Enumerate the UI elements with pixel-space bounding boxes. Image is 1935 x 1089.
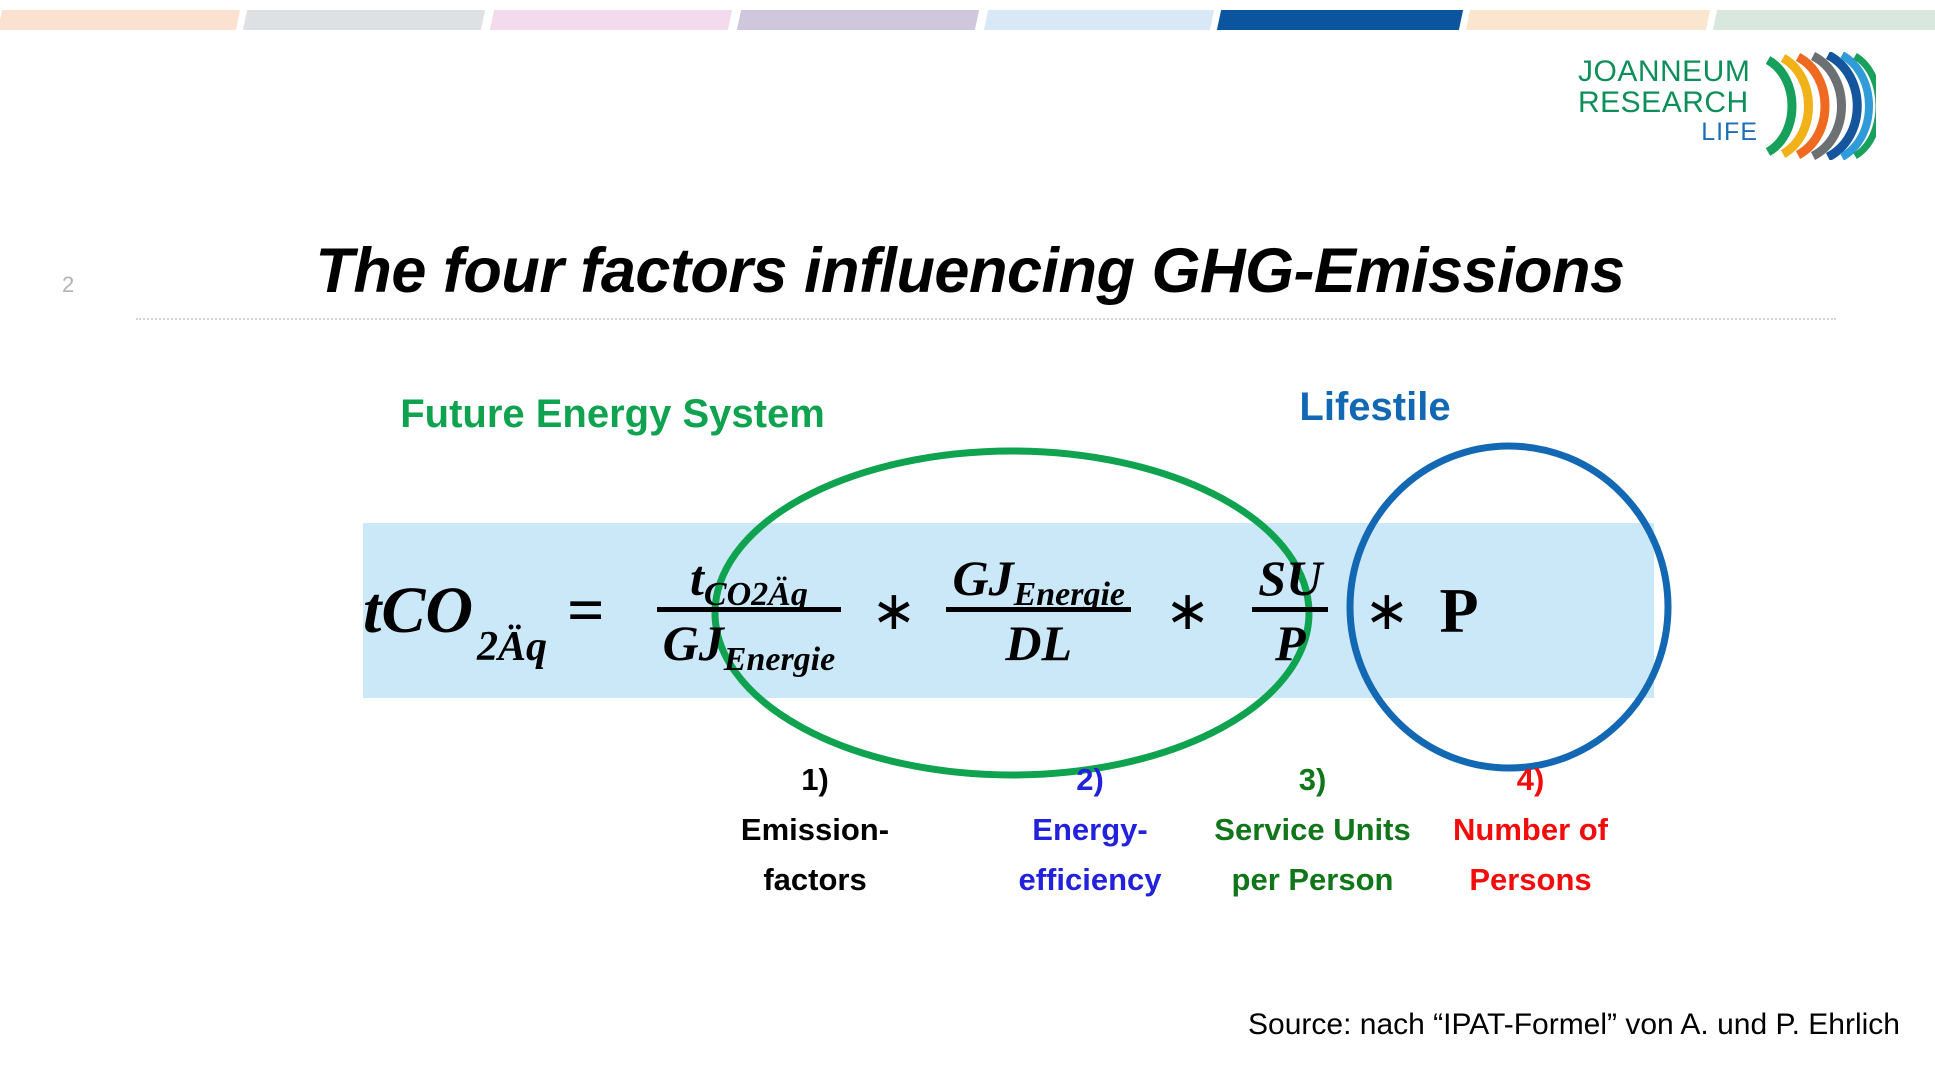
- lhs-base: tCO: [363, 578, 473, 644]
- factor-3-line1: Service Units: [1200, 805, 1425, 855]
- multiply-sign-2: ∗: [1165, 584, 1210, 638]
- factor-label-3: 3) Service Units per Person: [1200, 755, 1425, 905]
- factor-label-1: 1) Emission- factors: [725, 755, 905, 905]
- factor-1-line1: Emission-: [725, 805, 905, 855]
- equals-sign: =: [567, 578, 605, 644]
- fraction2-denominator: DL: [999, 612, 1078, 668]
- formula-lhs: tCO 2Äq: [363, 578, 543, 644]
- fraction-service-units: SU P: [1252, 553, 1328, 668]
- fraction1-denominator: GJ Energie: [657, 612, 842, 668]
- ipat-formula: tCO 2Äq = t CO2Äq GJ Energie ∗ GJ Energi…: [363, 523, 1654, 698]
- group-label-lifestile: Lifestile: [1290, 385, 1460, 430]
- factor-4-line1: Number of: [1428, 805, 1633, 855]
- formula-final-term-population: P: [1439, 579, 1478, 643]
- factor-label-2: 2) Energy- efficiency: [1000, 755, 1180, 905]
- factor-2-line2: efficiency: [1000, 855, 1180, 905]
- fraction1-numerator-subscript: CO2Äq: [704, 578, 808, 612]
- factor-1-line2: factors: [725, 855, 905, 905]
- factor-4-number: 4): [1428, 755, 1633, 805]
- source-citation: Source: nach “IPAT-Formel” von A. und P.…: [1180, 1008, 1900, 1042]
- fraction3-denominator-base: P: [1275, 618, 1306, 668]
- factor-1-number: 1): [725, 755, 905, 805]
- fraction1-numerator-base: t: [690, 553, 704, 603]
- fraction-emission-factor: t CO2Äq GJ Energie: [657, 553, 842, 668]
- group-label-future-energy-system: Future Energy System: [385, 392, 840, 437]
- fraction2-numerator-base: GJ: [952, 553, 1013, 603]
- factor-4-line2: Persons: [1428, 855, 1633, 905]
- factor-3-number: 3): [1200, 755, 1425, 805]
- multiply-sign-3: ∗: [1364, 584, 1409, 638]
- fraction2-numerator: GJ Energie: [946, 553, 1131, 607]
- fraction1-denominator-base: GJ: [663, 618, 724, 668]
- multiply-sign-1: ∗: [871, 584, 916, 638]
- factor-3-line2: per Person: [1200, 855, 1425, 905]
- factor-2-line1: Energy-: [1000, 805, 1180, 855]
- fraction3-numerator-base: SU: [1258, 553, 1322, 603]
- fraction1-denominator-subscript: Energie: [724, 643, 835, 677]
- fraction2-numerator-subscript: Energie: [1014, 578, 1125, 612]
- formula-diagram: Future Energy System Lifestile tCO 2Äq =…: [0, 0, 1935, 1089]
- factor-2-number: 2): [1000, 755, 1180, 805]
- fraction3-numerator: SU: [1252, 553, 1328, 607]
- lhs-subscript: 2Äq: [477, 626, 547, 668]
- factor-label-4: 4) Number of Persons: [1428, 755, 1633, 905]
- fraction-energy-efficiency: GJ Energie DL: [946, 553, 1131, 668]
- fraction1-numerator: t CO2Äq: [684, 553, 814, 607]
- fraction2-denominator-base: DL: [1005, 618, 1072, 668]
- fraction3-denominator: P: [1269, 612, 1312, 668]
